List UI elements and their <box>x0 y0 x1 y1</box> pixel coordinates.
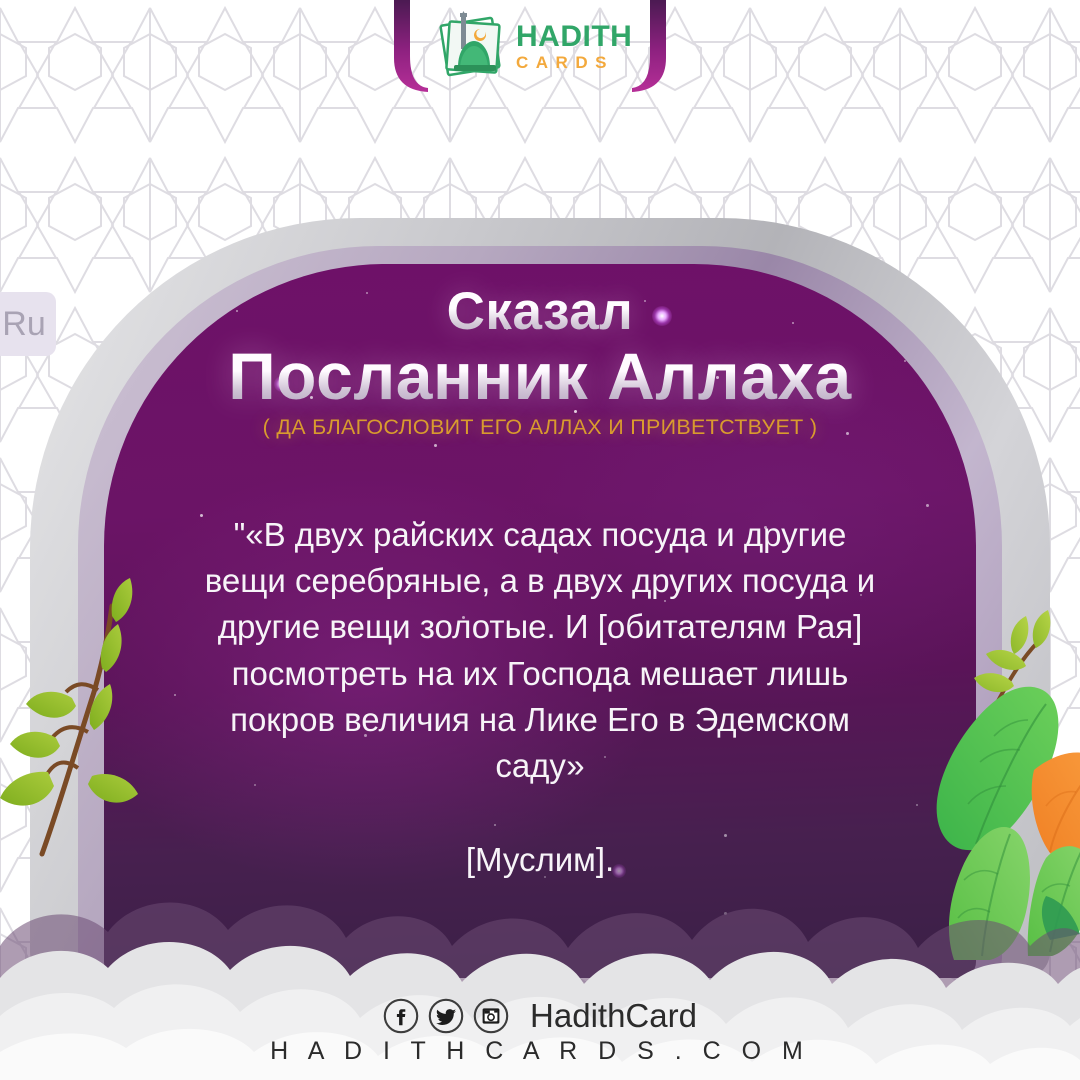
twitter-icon[interactable] <box>428 998 464 1034</box>
leaf-sprig-left-decoration <box>0 572 150 872</box>
footer-handle: HadithCard <box>530 997 697 1035</box>
logo-cards-text: CARDS <box>516 54 632 71</box>
footer-domain: H A D I T H C A R D S . C O M <box>270 1037 810 1066</box>
hadith-card: Ru <box>0 0 1080 1080</box>
bracket-left-decoration <box>388 0 428 92</box>
instagram-icon[interactable] <box>473 998 509 1034</box>
footer: HadithCard H A D I T H C A R D S . C O M <box>0 997 1080 1066</box>
language-badge-label: Ru <box>2 305 45 344</box>
facebook-icon[interactable] <box>383 998 419 1034</box>
footer-social-row: HadithCard <box>383 997 697 1035</box>
logo-hadith-text: HADITH <box>516 22 632 52</box>
brand-logo[interactable]: HADITH CARDS <box>436 6 646 86</box>
language-badge: Ru <box>0 292 56 356</box>
mosque-photo-card-icon <box>436 11 510 81</box>
